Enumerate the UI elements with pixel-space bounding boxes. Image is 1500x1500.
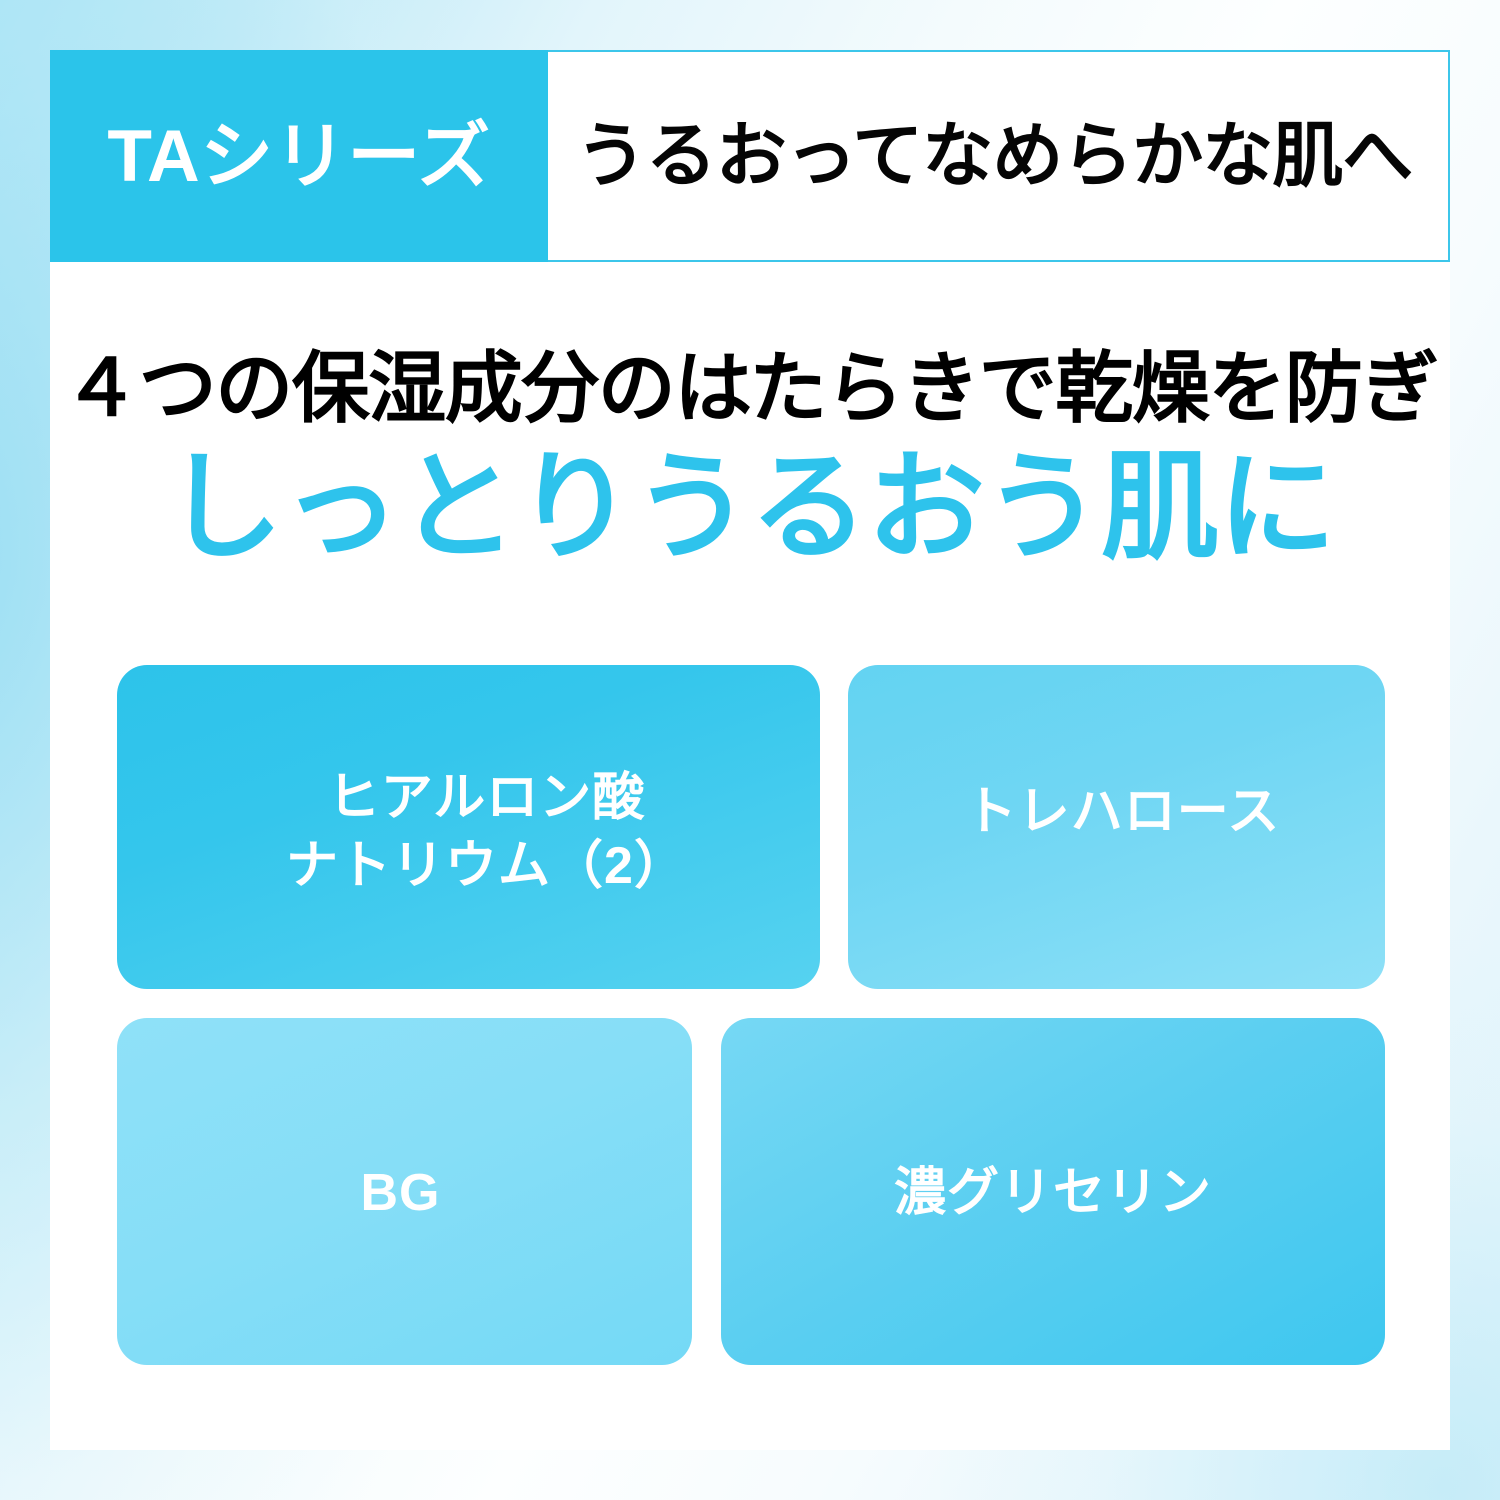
ingredient-card-label: ヒアルロン酸 ナトリウム（2） (286, 765, 687, 900)
content-panel: TAシリーズ うるおってなめらかな肌へ ４つの保湿成分のはたらきで乾燥を防ぎ し… (50, 50, 1450, 1450)
header-bar: TAシリーズ うるおってなめらかな肌へ (50, 50, 1450, 262)
series-tag-label: TAシリーズ (107, 120, 490, 193)
ingredient-card-grid: ヒアルロン酸 ナトリウム（2） トレハロース BG 濃グリセリン (117, 665, 1385, 1365)
headline-line-2: しっとりうるおう肌に (50, 442, 1450, 574)
ingredient-card-trehalose[interactable]: トレハロース (848, 665, 1385, 989)
tagline-block: うるおってなめらかな肌へ (548, 50, 1450, 262)
headline-block: ４つの保湿成分のはたらきで乾燥を防ぎ しっとりうるおう肌に (50, 345, 1450, 575)
ingredient-card-glycerin[interactable]: 濃グリセリン (721, 1018, 1385, 1365)
poster-canvas: TAシリーズ うるおってなめらかな肌へ ４つの保湿成分のはたらきで乾燥を防ぎ し… (0, 0, 1500, 1500)
ingredient-card-bg[interactable]: BG (117, 1018, 692, 1365)
ingredient-card-label: 濃グリセリン (894, 1160, 1212, 1228)
ingredient-card-hyaluronate[interactable]: ヒアルロン酸 ナトリウム（2） (117, 665, 820, 989)
ingredient-card-label: BG (361, 1160, 441, 1228)
headline-line-1: ４つの保湿成分のはたらきで乾燥を防ぎ (50, 345, 1450, 432)
tagline-label: うるおってなめらかな肌へ (576, 121, 1412, 192)
ingredient-card-label: トレハロース (965, 779, 1280, 847)
series-tag-block: TAシリーズ (50, 50, 548, 262)
